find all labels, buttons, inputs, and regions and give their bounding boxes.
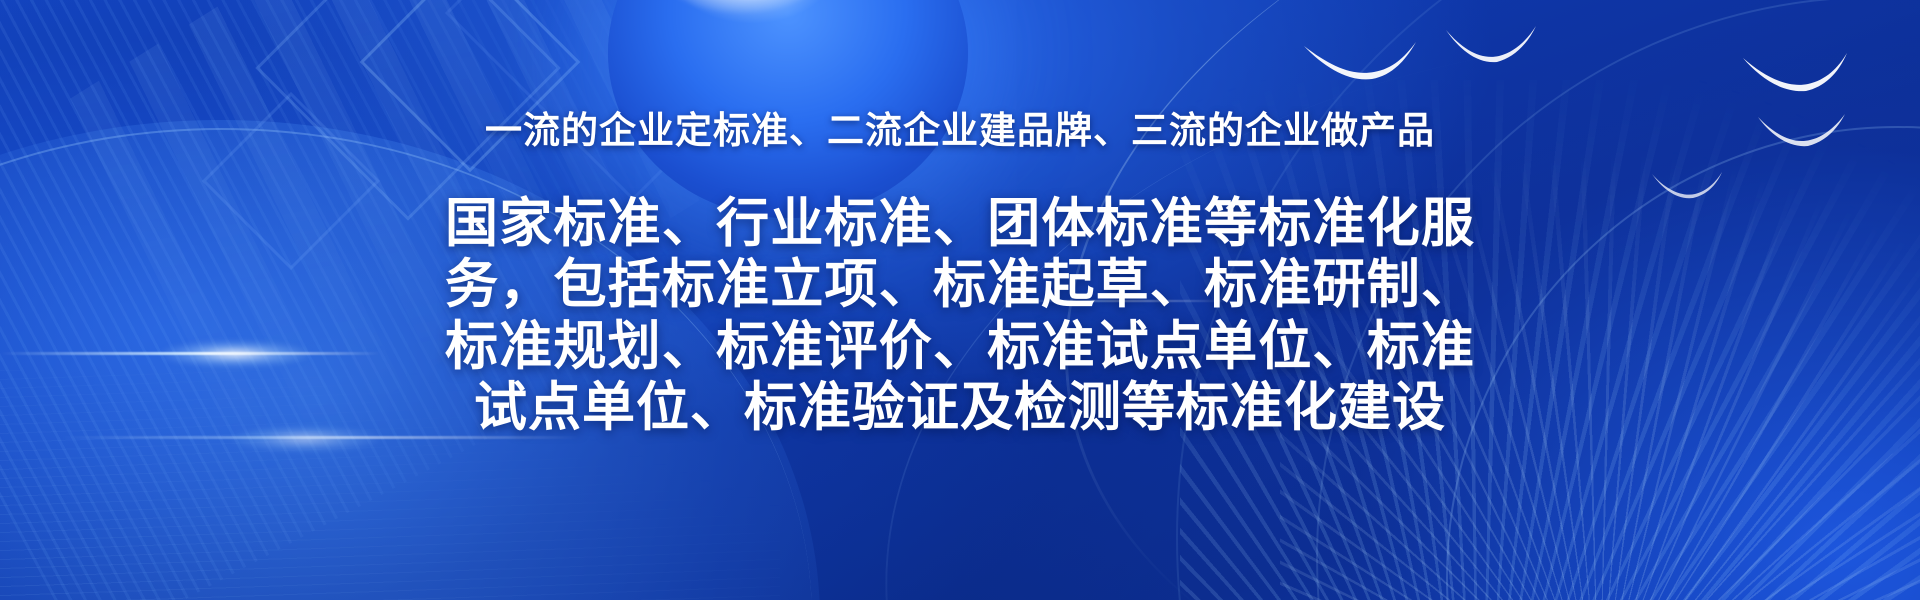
tech-banner: 一流的企业定标准、二流企业建品牌、三流的企业做产品 国家标准、行业标准、团体标准… (0, 0, 1920, 600)
body-line-1: 国家标准、行业标准、团体标准等标准化服 (445, 193, 1475, 254)
banner-content: 一流的企业定标准、二流企业建品牌、三流的企业做产品 国家标准、行业标准、团体标准… (0, 0, 1920, 600)
banner-body-text: 国家标准、行业标准、团体标准等标准化服 务，包括标准立项、标准起草、标准研制、 … (445, 193, 1475, 439)
body-line-2: 务，包括标准立项、标准起草、标准研制、 (445, 254, 1475, 315)
body-line-3: 标准规划、标准评价、标准试点单位、标准 (445, 316, 1475, 377)
body-line-4: 试点单位、标准验证及检测等标准化建设 (445, 377, 1475, 438)
banner-headline: 一流的企业定标准、二流企业建品牌、三流的企业做产品 (485, 112, 1435, 149)
